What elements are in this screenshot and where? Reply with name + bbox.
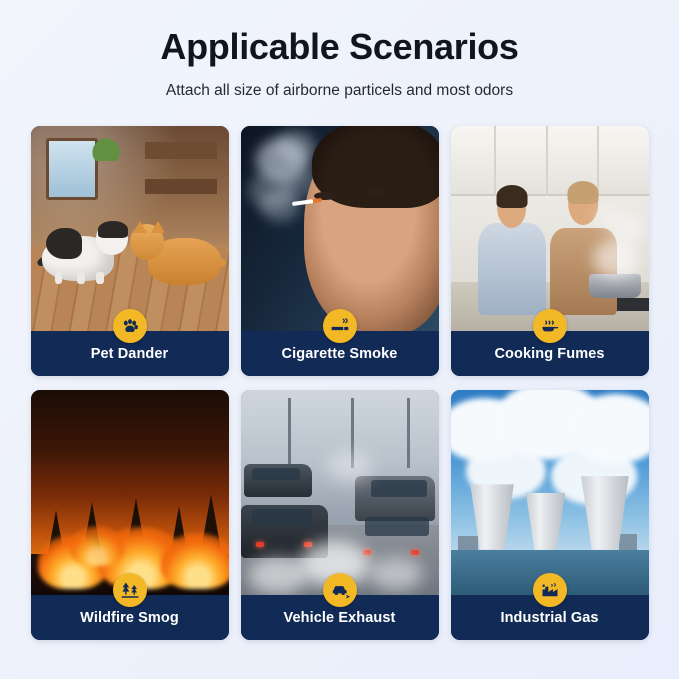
scenario-card-cooking-fumes: Cooking Fumes [451,126,649,376]
page-subtitle: Attach all size of airborne particels an… [0,82,679,100]
scenario-card-vehicle-exhaust: Vehicle Exhaust [241,390,439,640]
cigarette-smoke-photo [241,126,439,331]
cooking-pan-icon [533,309,567,343]
page-header: Applicable Scenarios Attach all size of … [0,0,679,100]
cigarette-icon [323,309,357,343]
scenario-card-pet-dander: Pet Dander [31,126,229,376]
page-title: Applicable Scenarios [0,26,679,68]
cooking-fumes-photo [451,126,649,331]
wildfire-trees-icon [113,573,147,607]
industrial-gas-photo [451,390,649,595]
scenario-card-industrial-gas: Industrial Gas [451,390,649,640]
pet-dander-photo [31,126,229,331]
scenario-card-wildfire-smog: Wildfire Smog [31,390,229,640]
factory-icon [533,573,567,607]
wildfire-smog-photo [31,390,229,595]
scenario-card-cigarette-smoke: Cigarette Smoke [241,126,439,376]
applicable-scenarios-page: Applicable Scenarios Attach all size of … [0,0,679,679]
vehicle-exhaust-photo [241,390,439,595]
scenario-grid: Pet Dander [31,126,649,640]
paw-print-icon [113,309,147,343]
car-exhaust-icon [323,573,357,607]
